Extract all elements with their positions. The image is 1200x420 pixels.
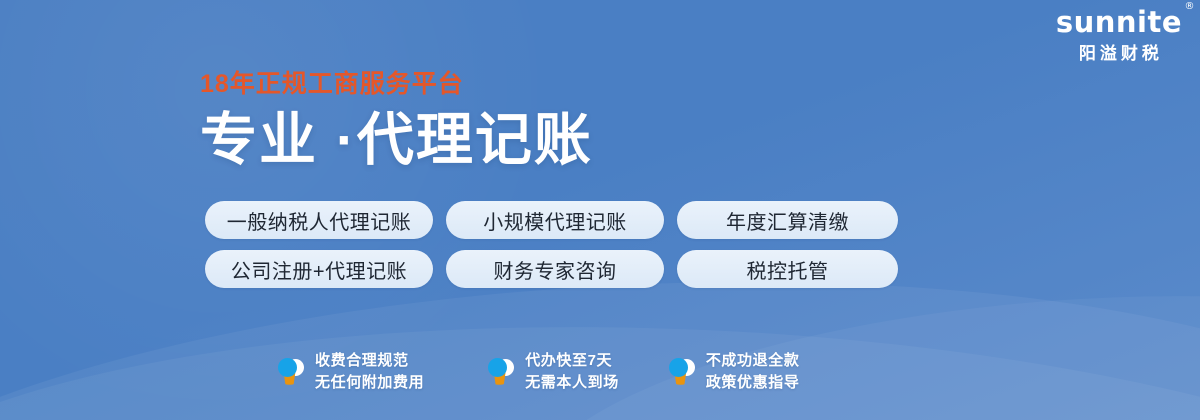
headline-block: 18年正规工商服务平台 专业 ·代理记账 [200, 72, 593, 171]
service-tag-small-scale-bookkeeping[interactable]: 小规模代理记账 [446, 201, 664, 239]
service-tag-row: 一般纳税人代理记账 小规模代理记账 年度汇算清缴 [205, 201, 898, 239]
service-tag-annual-settlement[interactable]: 年度汇算清缴 [677, 201, 898, 239]
feature-line-2: 无需本人到场 [525, 372, 619, 394]
service-tag-finance-expert-consulting[interactable]: 财务专家咨询 [446, 250, 664, 288]
feature-item-speed: 代办快至7天 无需本人到场 [486, 350, 619, 394]
registered-trademark-icon: ® [1185, 2, 1196, 12]
brand-name-cn: 阳溢财税 [1056, 45, 1182, 62]
brand-logo[interactable]: sunnite ® 阳溢财税 [1056, 8, 1182, 62]
person-badge-icon [486, 356, 516, 388]
service-tag-tax-control-hosting[interactable]: 税控托管 [677, 250, 898, 288]
feature-highlight-list: 收费合理规范 无任何附加费用 代办快至7天 无需本人到场 不成功退全款 [276, 350, 799, 394]
brand-wordmark-text: sunnite [1056, 5, 1182, 39]
feature-line-1: 收费合理规范 [315, 350, 424, 372]
feature-line-1: 代办快至7天 [525, 350, 619, 372]
page-title: 专业 ·代理记账 [200, 111, 593, 171]
service-tag-list: 一般纳税人代理记账 小规模代理记账 年度汇算清缴 公司注册+代理记账 财务专家咨… [205, 201, 898, 288]
brand-wordmark: sunnite ® [1056, 8, 1182, 37]
feature-text-pricing: 收费合理规范 无任何附加费用 [315, 350, 424, 394]
feature-text-speed: 代办快至7天 无需本人到场 [525, 350, 619, 394]
background-glow [0, 0, 600, 400]
service-tag-row: 公司注册+代理记账 财务专家咨询 税控托管 [205, 250, 898, 288]
feature-item-pricing: 收费合理规范 无任何附加费用 [276, 350, 424, 394]
feature-line-2: 无任何附加费用 [315, 372, 424, 394]
feature-line-2: 政策优惠指导 [706, 372, 800, 394]
feature-line-1: 不成功退全款 [706, 350, 800, 372]
headline-kicker: 18年正规工商服务平台 [200, 72, 593, 97]
promo-banner: sunnite ® 阳溢财税 18年正规工商服务平台 专业 ·代理记账 一般纳税… [0, 0, 1200, 420]
feature-text-guarantee: 不成功退全款 政策优惠指导 [706, 350, 800, 394]
person-badge-icon [276, 356, 306, 388]
service-tag-general-taxpayer-bookkeeping[interactable]: 一般纳税人代理记账 [205, 201, 433, 239]
feature-item-guarantee: 不成功退全款 政策优惠指导 [667, 350, 800, 394]
service-tag-company-registration-bookkeeping[interactable]: 公司注册+代理记账 [205, 250, 433, 288]
person-badge-icon [667, 356, 697, 388]
